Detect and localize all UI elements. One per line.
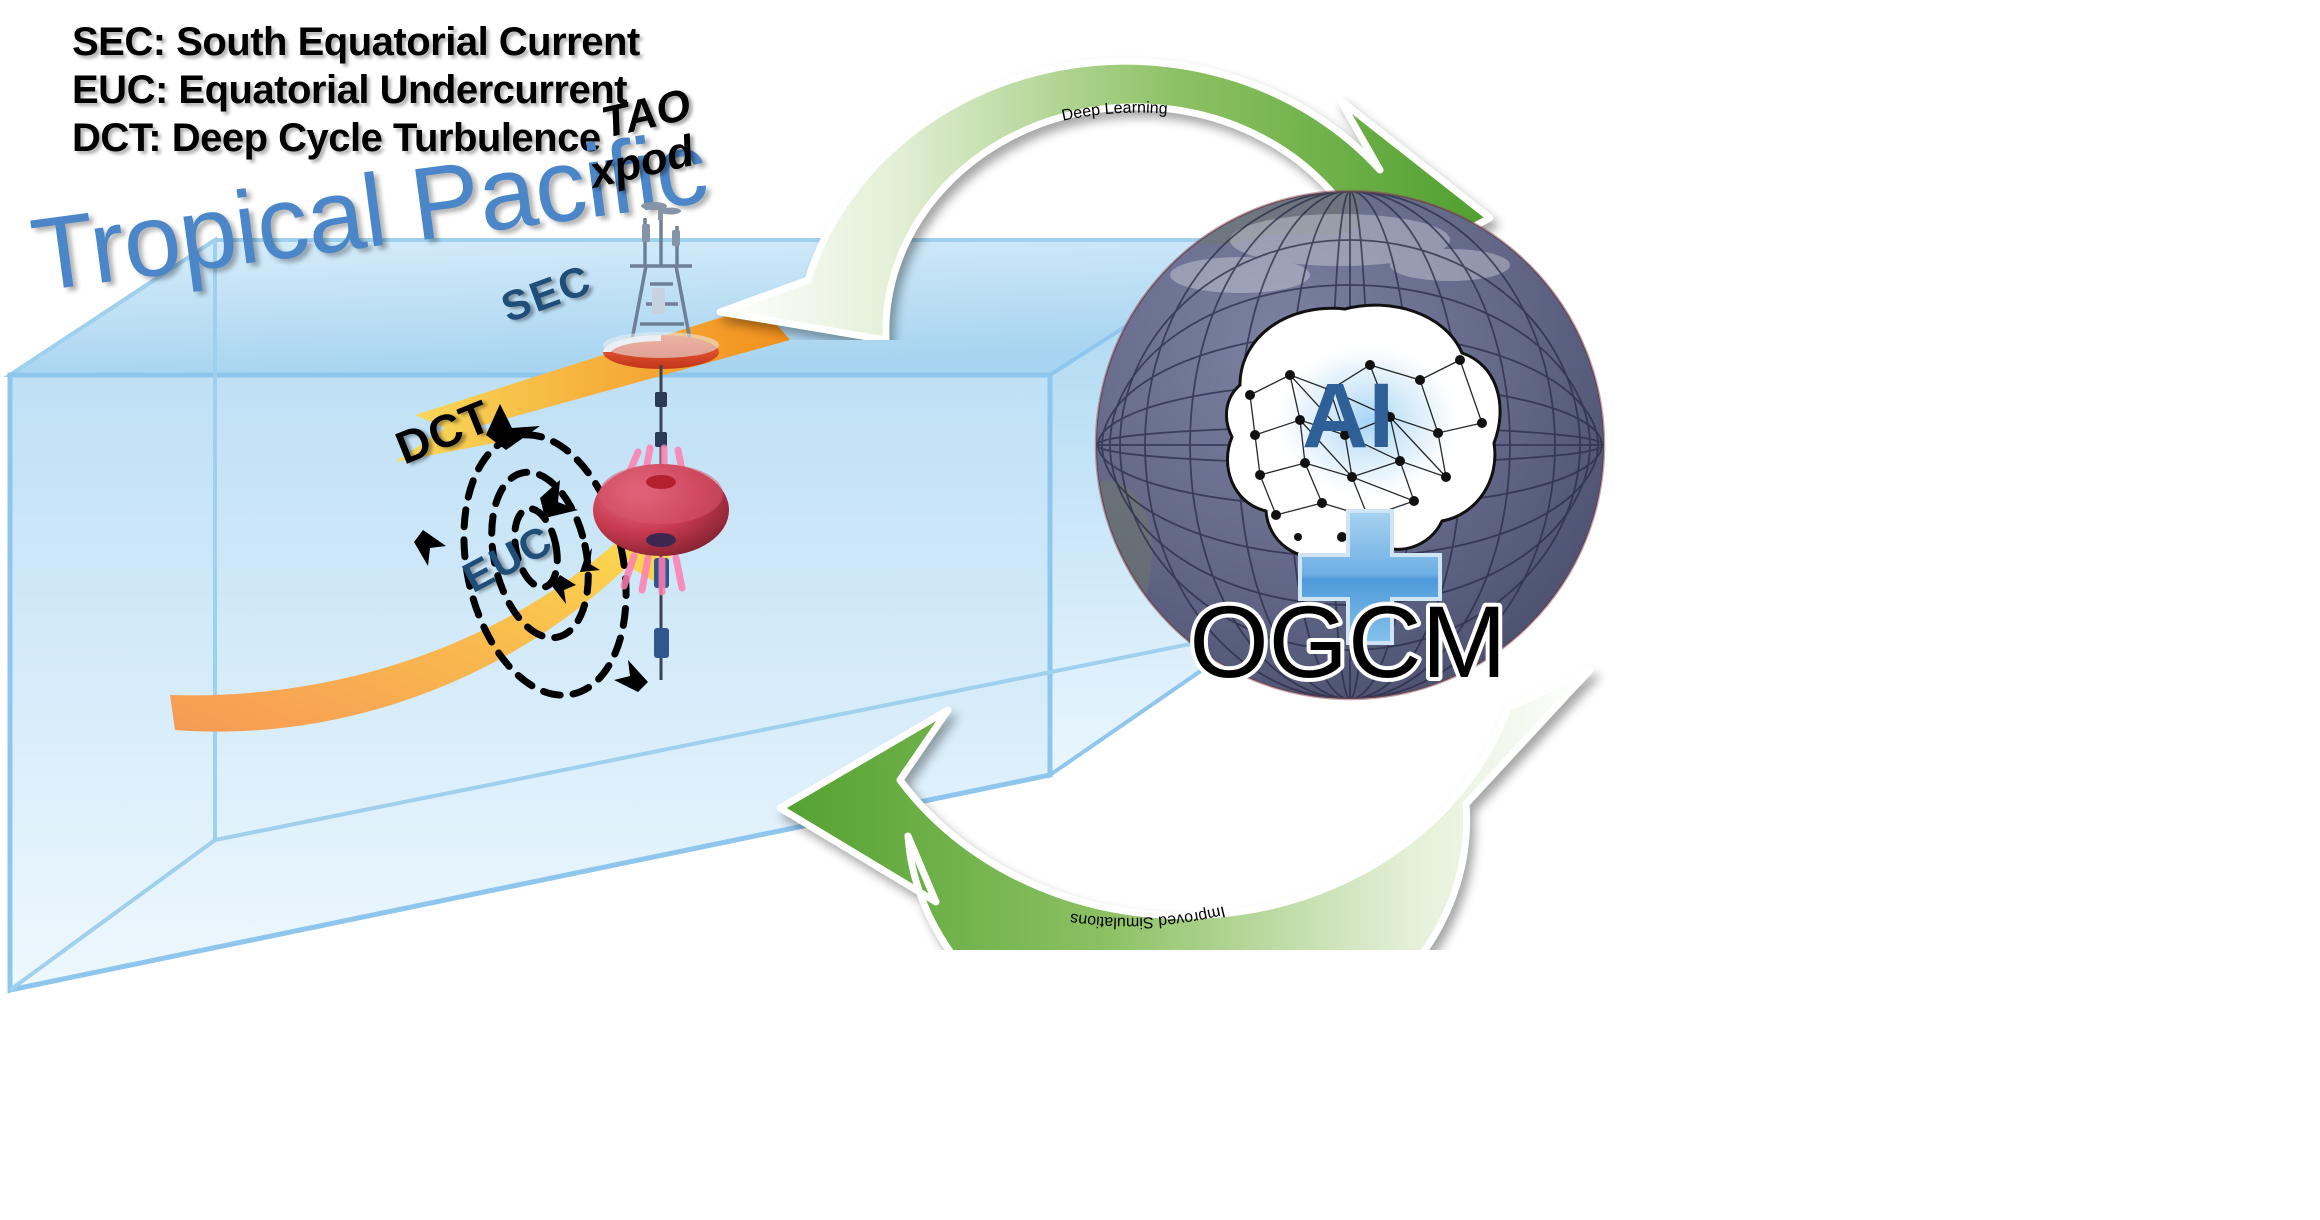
ogcm-label: OGCM — [1189, 585, 1506, 699]
xpod-instrument — [593, 448, 729, 592]
buoy-tower — [630, 210, 692, 340]
ai-label: AI — [1302, 365, 1394, 467]
ogcm-globe: AI OGCM — [1090, 185, 1610, 705]
improved-simulations-arrow-shape — [780, 670, 1590, 950]
